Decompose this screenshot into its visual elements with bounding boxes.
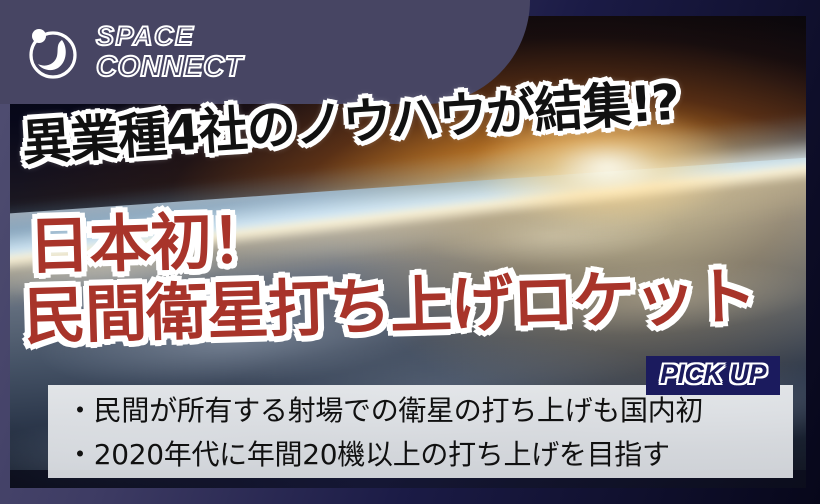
bullet-item-1: ・民間が所有する射場での衛星の打ち上げも国内初 [48, 389, 793, 433]
bullet-item-2: ・2020年代に年間20機以上の打ち上げを目指す [48, 433, 793, 477]
bullet-panel: ・民間が所有する射場での衛星の打ち上げも国内初 ・2020年代に年間20機以上の… [48, 385, 793, 478]
brand-wordmark: SPACE CONNECT [96, 23, 243, 82]
brand-line-1: SPACE [96, 23, 243, 50]
brand-line-2: CONNECT [96, 53, 243, 82]
pickup-badge[interactable]: PICK UP [646, 356, 780, 395]
pickup-badge-label: PICK UP [660, 359, 766, 389]
planet-crescent-icon [22, 22, 82, 82]
pickup-banner: SPACE CONNECT 異業種4社のノウハウが結集!? 日本初！ 民間衛星打… [0, 0, 820, 504]
